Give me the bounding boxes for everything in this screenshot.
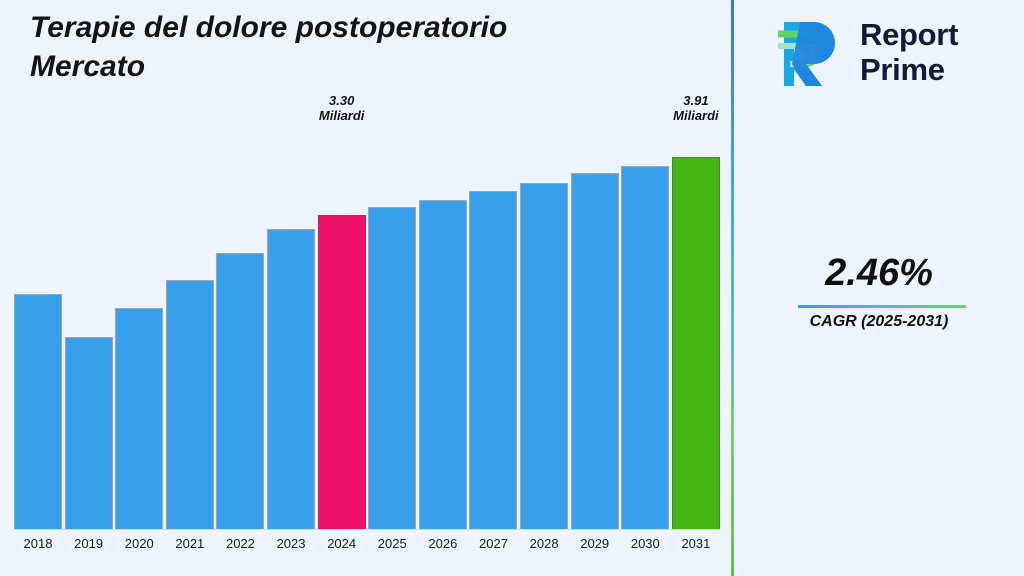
bar-2024[interactable] <box>318 215 366 529</box>
bar-slot <box>621 130 669 529</box>
bar-2025[interactable] <box>368 207 416 529</box>
bar-slot <box>267 130 315 529</box>
x-tick-2030: 2030 <box>621 536 669 551</box>
bar-slot <box>520 130 568 529</box>
x-tick-2024: 2024 <box>318 536 366 551</box>
bar-slot <box>419 130 467 529</box>
bar-2023[interactable] <box>267 229 315 529</box>
bar-2021[interactable] <box>166 280 214 529</box>
bar-series: 3.30 Miliardi <box>14 130 720 529</box>
bar-2031[interactable] <box>672 157 720 529</box>
bar-slot <box>571 130 619 529</box>
bar-2028[interactable] <box>520 183 568 529</box>
bar-slot <box>469 130 517 529</box>
report-prime-logo-mark-icon <box>776 16 852 92</box>
brand-logo-line2: Prime <box>860 53 958 88</box>
cagr-value: 2.46% <box>734 252 1024 295</box>
x-tick-2026: 2026 <box>419 536 467 551</box>
bar-2027[interactable] <box>469 191 517 529</box>
x-tick-2022: 2022 <box>216 536 264 551</box>
bar-slot <box>115 130 163 529</box>
page-title: Terapie del dolore postoperatorio Mercat… <box>30 8 630 86</box>
bar-2019[interactable] <box>65 337 113 529</box>
cagr-caption: CAGR (2025-2031) <box>734 313 1024 331</box>
bar-slot: 3.30 Miliardi <box>318 130 366 529</box>
x-tick-2025: 2025 <box>368 536 416 551</box>
brand-logo-line1: Report <box>860 18 958 53</box>
bar-2030[interactable] <box>621 166 669 529</box>
bar-value-label-2031: 3.91 Miliardi <box>673 94 719 124</box>
x-tick-2019: 2019 <box>65 536 113 551</box>
brand-logo-text: Report Prime <box>860 18 958 87</box>
bar-slot <box>14 130 62 529</box>
x-axis-line <box>14 529 720 530</box>
x-tick-2023: 2023 <box>267 536 315 551</box>
x-tick-2018: 2018 <box>14 536 62 551</box>
x-tick-2020: 2020 <box>115 536 163 551</box>
chart-panel: Terapie del dolore postoperatorio Mercat… <box>0 0 731 576</box>
bar-2026[interactable] <box>419 200 467 529</box>
bar-2029[interactable] <box>571 173 619 529</box>
bar-value-label-2024: 3.30 Miliardi <box>319 94 365 124</box>
bar-chart-plot: 3.30 Miliardi <box>14 130 720 530</box>
summary-panel: Report Prime 2.46% CAGR (2025-2031) <box>734 0 1024 576</box>
brand-logo: Report Prime <box>776 14 1006 94</box>
bar-2020[interactable] <box>115 308 163 529</box>
x-tick-2031: 2031 <box>672 536 720 551</box>
x-tick-2027: 2027 <box>469 536 517 551</box>
bar-2022[interactable] <box>216 253 264 529</box>
bar-2018[interactable] <box>14 294 62 529</box>
x-tick-2021: 2021 <box>166 536 214 551</box>
x-tick-2028: 2028 <box>520 536 568 551</box>
bar-slot <box>65 130 113 529</box>
cagr-divider <box>798 305 966 308</box>
x-axis-tick-labels: 2018 2019 2020 2021 2022 2023 2024 2025 … <box>14 536 720 551</box>
bar-slot <box>216 130 264 529</box>
bar-slot: 3.91 Miliardi <box>672 130 720 529</box>
bar-slot <box>166 130 214 529</box>
bar-slot <box>368 130 416 529</box>
slide-root: Terapie del dolore postoperatorio Mercat… <box>0 0 1024 576</box>
x-tick-2029: 2029 <box>571 536 619 551</box>
